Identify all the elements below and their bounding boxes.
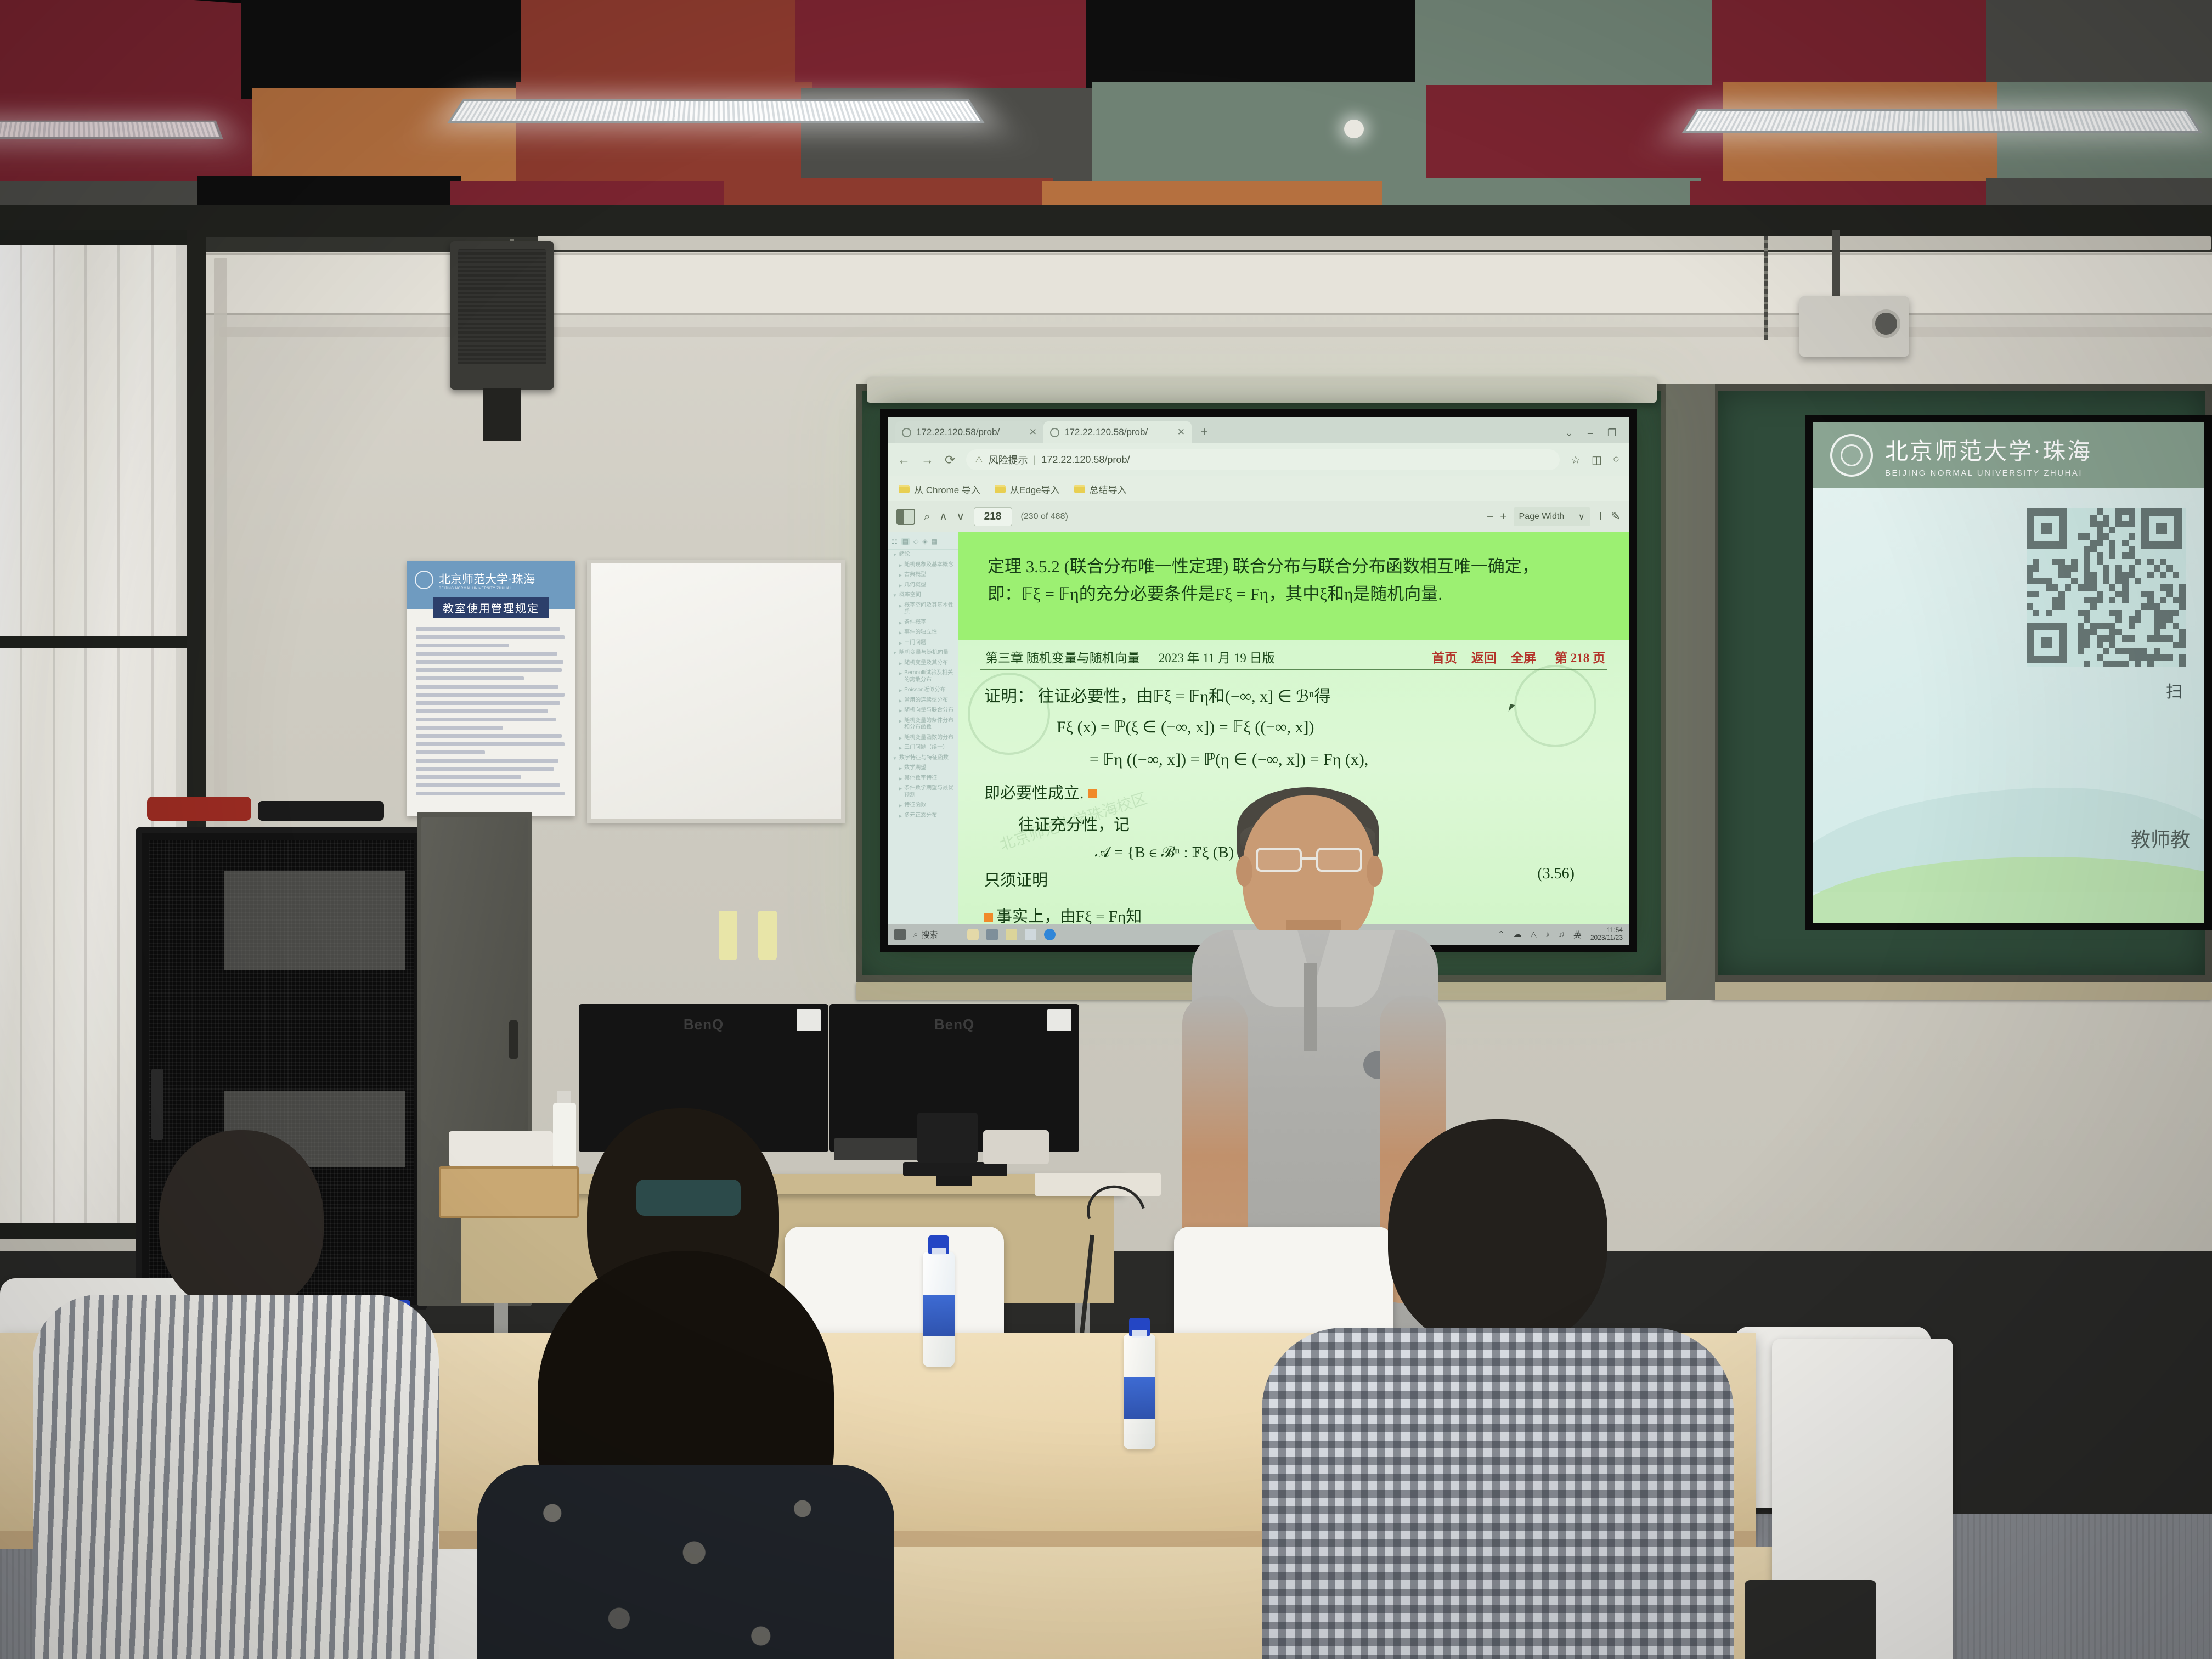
pdf-bookmark-item[interactable]: ▶概率空间及其基本性质 <box>888 601 958 618</box>
pause-marker <box>984 913 993 922</box>
chevron-right-icon[interactable]: ▶ <box>899 572 902 579</box>
pdf-bookmark-label: 随机现象及基本概念 <box>904 562 953 569</box>
water-bottle[interactable] <box>1124 1334 1155 1449</box>
chevron-right-icon[interactable]: ▶ <box>899 582 902 589</box>
sidebar-tab-layers[interactable]: ◈ <box>922 538 927 545</box>
university-name-cn: 北京师范大学·珠海 <box>1885 433 2092 466</box>
pdf-bookmark-item[interactable]: ▶Bernoulli试验及相关的离散分布 <box>888 668 958 685</box>
chevron-right-icon[interactable]: ▶ <box>899 640 902 647</box>
pdf-bookmark-item[interactable]: ▶事件的独立性 <box>888 628 958 638</box>
sidebar-tab-thumbnails[interactable]: ☷ <box>891 538 898 545</box>
projector-mount-arm <box>1832 230 1840 302</box>
board-divider <box>1666 384 1715 1000</box>
monitor-brand-label: BenQ <box>934 1016 974 1033</box>
poster-title: 教室使用管理规定 <box>433 597 549 618</box>
taskbar-app-icon[interactable] <box>1025 929 1036 940</box>
taskbar-app-icon[interactable] <box>967 929 979 940</box>
pdf-bookmark-item[interactable]: ▼绪论 <box>888 550 958 560</box>
system-tray: ⌃ ☁ △ ♪ ♫ 英 11:54 2023/11/23 <box>1498 927 1623 942</box>
chevron-right-icon[interactable]: ▶ <box>899 765 902 772</box>
chevron-right-icon[interactable]: ▶ <box>899 812 902 820</box>
chevron-right-icon[interactable]: ▶ <box>899 707 902 714</box>
start-button[interactable] <box>894 929 906 940</box>
taskbar-browser-icon[interactable] <box>1044 929 1056 940</box>
folder-icon <box>899 485 910 493</box>
slide-chapter: 第三章 随机变量与随机向量 <box>985 647 1140 666</box>
theorem-line: 即：𝔽ξ = 𝔽η的充分必要条件是Fξ = Fη，其中ξ和η是随机向量. <box>988 580 1605 608</box>
back-icon[interactable]: ← <box>898 453 910 467</box>
red-equipment-case <box>147 797 251 821</box>
ceiling-speaker <box>450 241 554 390</box>
chevron-right-icon[interactable]: ▶ <box>899 735 902 742</box>
chevron-right-icon[interactable]: ▶ <box>899 785 902 799</box>
bookmark-item[interactable]: 总结导入 <box>1074 482 1127 496</box>
pdf-bookmarks-sidebar[interactable]: ☷ ▤ ◇ ◈ ▦ ▼绪论▶随机现象及基本概念▶古典概型▶几何概型▼概率空间▶概… <box>888 532 958 924</box>
ceiling <box>0 0 2212 236</box>
window-controls: ⌄ – ❐ <box>1552 427 1629 443</box>
taskbar-clock[interactable]: 11:54 2023/11/23 <box>1590 927 1623 942</box>
chevron-right-icon[interactable]: ▶ <box>899 687 902 694</box>
chevron-right-icon[interactable]: ▶ <box>899 660 902 667</box>
security-warning-label: 风险提示 <box>989 453 1028 467</box>
proof-text: 即必要性成立. <box>984 785 1084 802</box>
glasses-lens <box>1256 848 1302 872</box>
shelf-bottle <box>758 911 777 960</box>
tab-title: 172.22.120.58/prob/ <box>1064 427 1148 438</box>
sidebar-tab-outline[interactable]: ▤ <box>901 538 910 545</box>
chevron-right-icon[interactable]: ▶ <box>899 602 902 616</box>
pdf-bookmark-item[interactable]: ▶随机变量的条件分布和分布函数 <box>888 716 958 733</box>
tab-title: 172.22.120.58/prob/ <box>916 427 1000 438</box>
pdf-bookmark-item[interactable]: ▶随机向量与联合分布 <box>888 706 958 716</box>
network-icon[interactable]: △ <box>1531 929 1537 939</box>
sidebar-tab-extra[interactable]: ▦ <box>932 538 938 545</box>
poster-body-text <box>407 618 575 795</box>
warning-icon: ⚠ <box>975 454 983 465</box>
music-icon[interactable]: ♫ <box>1559 930 1565 939</box>
pdf-bookmark-item[interactable]: ▶古典概型 <box>888 570 958 580</box>
draw-tool-icon[interactable]: ✎ <box>1611 510 1621 523</box>
scan-label: 扫 <box>2166 678 2182 702</box>
desktop-pc <box>917 1113 978 1163</box>
close-icon[interactable]: ✕ <box>1177 427 1185 438</box>
bottle-label <box>1124 1377 1155 1419</box>
pdf-bookmark-item[interactable]: ▶条件概率 <box>888 618 958 628</box>
pdf-bookmark-item[interactable]: ▶几何概型 <box>888 580 958 591</box>
pdf-bookmark-label: 常用的连续型分布 <box>904 697 948 704</box>
hair-clip <box>636 1180 741 1216</box>
pdf-bookmark-item[interactable]: ▼数字特征与特征函数 <box>888 753 958 764</box>
chevron-right-icon[interactable]: ▶ <box>899 718 902 731</box>
chair-base <box>1745 1580 1876 1659</box>
glasses-lens <box>1316 848 1362 872</box>
pdf-bookmark-label: 条件数学期望与最优预测 <box>904 785 955 799</box>
separator: | <box>1034 454 1036 466</box>
slide-page-label: 第 218 页 <box>1555 647 1605 666</box>
pdf-bookmark-label: 数学期望 <box>904 765 926 772</box>
monitor-brand-label: BenQ <box>684 1016 724 1033</box>
pdf-viewer-toolbar: ⌕ ∧ ∨ 218 (230 of 488) − + Page Width ∨ … <box>888 501 1629 532</box>
ceiling-projector <box>1799 296 1909 357</box>
chevron-right-icon[interactable]: ▶ <box>899 562 902 569</box>
zoom-out-button[interactable]: − <box>1487 510 1493 523</box>
sidebar-tab-strip: ☷ ▤ ◇ ◈ ▦ <box>888 535 958 550</box>
pdf-bookmark-label: Bernoulli试验及相关的离散分布 <box>904 670 955 684</box>
poster-seal-icon <box>415 571 433 589</box>
chevron-down-icon[interactable]: ▼ <box>893 592 897 599</box>
audience-right <box>1262 1130 1734 1659</box>
monitor-sticker <box>797 1009 821 1031</box>
pdf-bookmark-item[interactable]: ▼随机变量与随机向量 <box>888 648 958 658</box>
pdf-bookmark-label: 随机变量函数的分布 <box>904 735 953 742</box>
pdf-bookmark-label: 条件概率 <box>904 619 926 627</box>
ceiling-light <box>1682 109 2202 133</box>
bookmark-label: 从 Chrome 导入 <box>914 482 980 496</box>
window-frame-mid <box>0 636 187 648</box>
page-count-label: (230 of 488) <box>1021 512 1068 522</box>
browser-tab-strip: 172.22.120.58/prob/ ✕ 172.22.120.58/prob… <box>888 417 1629 443</box>
page-number-input[interactable]: 218 <box>974 507 1012 526</box>
speaker-mount <box>483 388 521 441</box>
chevron-right-icon[interactable]: ▶ <box>899 670 902 684</box>
browser-window: 172.22.120.58/prob/ ✕ 172.22.120.58/prob… <box>888 417 1629 532</box>
whiteboard <box>587 560 845 823</box>
qr-code <box>2027 508 2186 667</box>
taskbar-search[interactable]: ⌕ 搜索 <box>913 929 938 940</box>
tab-favicon <box>902 428 911 437</box>
search-label: 搜索 <box>921 929 938 940</box>
pdf-bookmark-label: 随机变量的条件分布和分布函数 <box>904 718 955 731</box>
audience-body <box>33 1295 439 1659</box>
projector-lens <box>1872 309 1900 338</box>
monitor-sticker <box>1047 1009 1071 1031</box>
pdf-bookmark-label: 事件的独立性 <box>904 629 937 636</box>
audience-head <box>1388 1119 1607 1350</box>
pdf-bookmark-item[interactable]: ▶三门问题 <box>888 638 958 648</box>
glasses-bridge <box>1302 857 1316 860</box>
audience-left <box>33 1130 439 1659</box>
bookmark-item[interactable]: 从 Chrome 导入 <box>899 482 980 496</box>
pdf-bookmark-label: 绪论 <box>899 551 910 558</box>
ceiling-light <box>447 99 984 123</box>
ceiling-dome-light <box>1344 120 1364 138</box>
audience-center <box>472 1114 900 1659</box>
chevron-down-icon[interactable]: ▼ <box>893 650 897 657</box>
lecture-hall-photo: 172.22.120.58/prob/ ✕ 172.22.120.58/prob… <box>0 0 2212 1659</box>
pdf-bookmark-label: 概率空间及其基本性质 <box>904 602 955 616</box>
desk-item <box>983 1130 1049 1164</box>
taskbar-app-icon[interactable] <box>1006 929 1017 940</box>
pdf-bookmark-item[interactable]: ▶随机变量及其分布 <box>888 658 958 669</box>
chevron-down-icon[interactable]: ▼ <box>893 551 897 558</box>
folder-icon <box>1074 485 1085 493</box>
url-input[interactable]: ⚠ 风险提示 | 172.22.120.58/prob/ <box>966 449 1560 470</box>
equation-number: (3.56) <box>1537 865 1575 883</box>
close-icon[interactable]: ✕ <box>1029 427 1037 438</box>
rack-handle[interactable] <box>151 1069 163 1140</box>
zoom-level-select[interactable]: Page Width ∨ <box>1514 507 1590 526</box>
reload-icon[interactable]: ⟳ <box>945 453 955 467</box>
tray-expand-icon[interactable]: ⌃ <box>1498 929 1505 939</box>
bookmark-item[interactable]: 从Edge导入 <box>995 482 1060 496</box>
cabinet-handle[interactable] <box>509 1020 518 1059</box>
water-bottle[interactable] <box>923 1252 955 1367</box>
cable-bundle <box>258 801 384 821</box>
forward-icon[interactable]: → <box>921 453 934 467</box>
browser-address-bar: ← → ⟳ ⚠ 风险提示 | 172.22.120.58/prob/ ☆ ◫ ○ <box>888 443 1629 476</box>
pdf-bookmark-item[interactable]: ▶Poisson近似分布 <box>888 685 958 696</box>
university-brand-bar: 北京师范大学·珠海 BEIJING NORMAL UNIVERSITY ZHUH… <box>1813 422 2204 488</box>
text-tool-icon[interactable]: I <box>1599 510 1602 523</box>
chevron-down-icon[interactable]: ⌄ <box>1565 427 1573 439</box>
chalk-tray <box>1712 982 2212 1000</box>
next-page-icon[interactable]: ∨ <box>956 510 964 523</box>
profile-avatar[interactable]: ○ <box>1613 453 1620 467</box>
pdf-bookmark-label: 古典概型 <box>904 572 926 579</box>
chevron-right-icon[interactable]: ▶ <box>899 697 902 704</box>
wall-poster: 北京师范大学·珠海 BEIJING NORMAL UNIVERSITY ZHUH… <box>407 561 575 816</box>
pdf-bookmark-item[interactable]: ▶常用的连续型分布 <box>888 696 958 706</box>
chevron-right-icon[interactable]: ▶ <box>899 775 902 782</box>
browser-tab-active[interactable]: 172.22.120.58/prob/ ✕ <box>1043 421 1192 443</box>
audience-body <box>477 1465 894 1659</box>
bookmark-label: 从Edge导入 <box>1010 482 1060 496</box>
pdf-bookmark-label: Poisson近似分布 <box>904 687 946 694</box>
window-frame-top <box>0 230 187 245</box>
pdf-bookmark-label: 随机变量及其分布 <box>904 660 948 667</box>
taskbar-app-icon[interactable] <box>986 929 998 940</box>
search-icon: ⌕ <box>913 930 918 939</box>
proof-line: = 𝔽η ((−∞, x]) = ℙ(η ∈ (−∞, x]) = Fη (x)… <box>980 737 1607 769</box>
folder-icon <box>995 485 1006 493</box>
volume-icon[interactable]: ♪ <box>1545 930 1550 939</box>
pdf-bookmark-item[interactable]: ▶随机现象及基本概念 <box>888 560 958 571</box>
pdf-bookmark-item[interactable]: ▶三门问题（续一） <box>888 743 958 753</box>
previous-page-icon[interactable]: ∧ <box>939 510 947 523</box>
bookmarks-bar: 从 Chrome 导入 从Edge导入 总结导入 <box>888 476 1629 501</box>
zoom-level-value: Page Width <box>1519 512 1565 522</box>
pdf-bookmark-item[interactable]: ▶多元正态分布 <box>888 811 958 821</box>
proof-text: 事实上，由Fξ = Fη知 <box>996 908 1142 924</box>
bottle-label <box>923 1295 955 1336</box>
slide-date: 2023 年 11 月 19 日版 <box>1159 647 1275 666</box>
shelf-bottle <box>719 911 737 960</box>
pdf-bookmark-label: 特征函数 <box>904 802 926 809</box>
pdf-bookmark-item[interactable]: ▶随机变量函数的分布 <box>888 733 958 743</box>
pdf-bookmark-item[interactable]: ▶数学期望 <box>888 763 958 774</box>
slide-nav-fullscreen[interactable]: 全屏 <box>1511 647 1536 666</box>
pdf-bookmark-label: 三门问题（续一） <box>904 744 948 752</box>
zoom-in-button[interactable]: + <box>1500 510 1506 523</box>
chevron-right-icon[interactable]: ▶ <box>899 744 902 752</box>
sidebar-toggle-button[interactable] <box>896 509 915 525</box>
url-text: 172.22.120.58/prob/ <box>1041 454 1130 466</box>
chevron-right-icon[interactable]: ▶ <box>899 802 902 809</box>
search-icon[interactable]: ⌕ <box>924 510 930 523</box>
maximize-icon[interactable]: ❐ <box>1607 427 1616 439</box>
chevron-down-icon[interactable]: ▼ <box>893 755 897 762</box>
projection-screen-housing <box>867 377 1657 403</box>
pdf-bookmark-label: 几何概型 <box>904 582 926 589</box>
pdf-bookmark-label: 随机向量与联合分布 <box>904 707 953 714</box>
audience-head <box>159 1130 324 1311</box>
minimize-icon[interactable]: – <box>1588 427 1593 439</box>
presenter-ear <box>1367 856 1383 887</box>
pdf-bookmark-label: 其他数字特征 <box>904 775 937 782</box>
new-tab-button[interactable]: + <box>1192 425 1217 443</box>
audience-body <box>1262 1328 1734 1659</box>
chevron-right-icon[interactable]: ▶ <box>899 629 902 636</box>
university-seal-icon <box>1830 434 1873 477</box>
split-view-icon[interactable]: ◫ <box>1592 453 1602 467</box>
clock-time: 11:54 <box>1590 927 1623 934</box>
pdf-bookmark-label: 数字特征与特征函数 <box>899 755 949 762</box>
tab-favicon <box>1050 428 1059 437</box>
ceiling-light <box>0 121 223 139</box>
theorem-block: 定理 3.5.2 (联合分布唯一性定理) 联合分布与联合分布函数相互唯一确定， … <box>958 532 1629 640</box>
slide-nav-back[interactable]: 返回 <box>1471 647 1497 666</box>
projector-chain <box>1764 236 1768 340</box>
conduit-pipe <box>538 236 2211 250</box>
theorem-line: 定理 3.5.2 (联合分布唯一性定理) 联合分布与联合分布函数相互唯一确定， <box>988 553 1605 580</box>
pdf-bookmark-item[interactable]: ▶条件数学期望与最优预测 <box>888 783 958 800</box>
pdf-bookmark-label: 随机变量与随机向量 <box>899 650 949 657</box>
cloud-icon[interactable]: ☁ <box>1514 929 1522 939</box>
pdf-bookmark-item[interactable]: ▶特征函数 <box>888 800 958 811</box>
chevron-right-icon[interactable]: ▶ <box>899 619 902 627</box>
slide-header: 第三章 随机变量与随机向量 2023 年 11 月 19 日版 首页 返回 全屏… <box>980 640 1607 670</box>
sidebar-tab-attachments[interactable]: ◇ <box>913 538 918 545</box>
presenter-ear <box>1236 856 1252 887</box>
bookmark-star-icon[interactable]: ☆ <box>1571 453 1581 467</box>
bookmark-label: 总结导入 <box>1090 482 1127 496</box>
university-name-en: BEIJING NORMAL UNIVERSITY ZHUHAI <box>1885 469 2092 478</box>
clock-date: 2023/11/23 <box>1590 934 1623 942</box>
pdf-bookmark-item[interactable]: ▼概率空间 <box>888 590 958 601</box>
proof-line: 证明： 往证必要性，由𝔽ξ = 𝔽η和(−∞, x] ∈ ℬⁿ得 <box>980 670 1607 707</box>
browser-tab[interactable]: 172.22.120.58/prob/ ✕ <box>895 421 1043 443</box>
shirt-placket <box>1304 963 1317 1051</box>
projection-screen-secondary: 北京师范大学·珠海 BEIJING NORMAL UNIVERSITY ZHUH… <box>1805 415 2212 930</box>
pause-marker <box>1088 789 1097 798</box>
footer-text: 教师教 <box>2131 824 2190 853</box>
poster-logo-en: BEIJING NORMAL UNIVERSITY ZHUHAI <box>439 587 535 590</box>
pdf-bookmark-label: 多元正态分布 <box>904 812 937 820</box>
poster-logo-cn: 北京师范大学·珠海 <box>439 571 535 587</box>
pdf-bookmark-label: 概率空间 <box>899 592 921 599</box>
ime-indicator[interactable]: 英 <box>1573 929 1582 940</box>
pdf-bookmark-item[interactable]: ▶其他数字特征 <box>888 774 958 784</box>
chevron-down-icon: ∨ <box>1578 511 1585 522</box>
slide-nav-home[interactable]: 首页 <box>1432 647 1457 666</box>
pdf-bookmark-label: 三门问题 <box>904 640 926 647</box>
